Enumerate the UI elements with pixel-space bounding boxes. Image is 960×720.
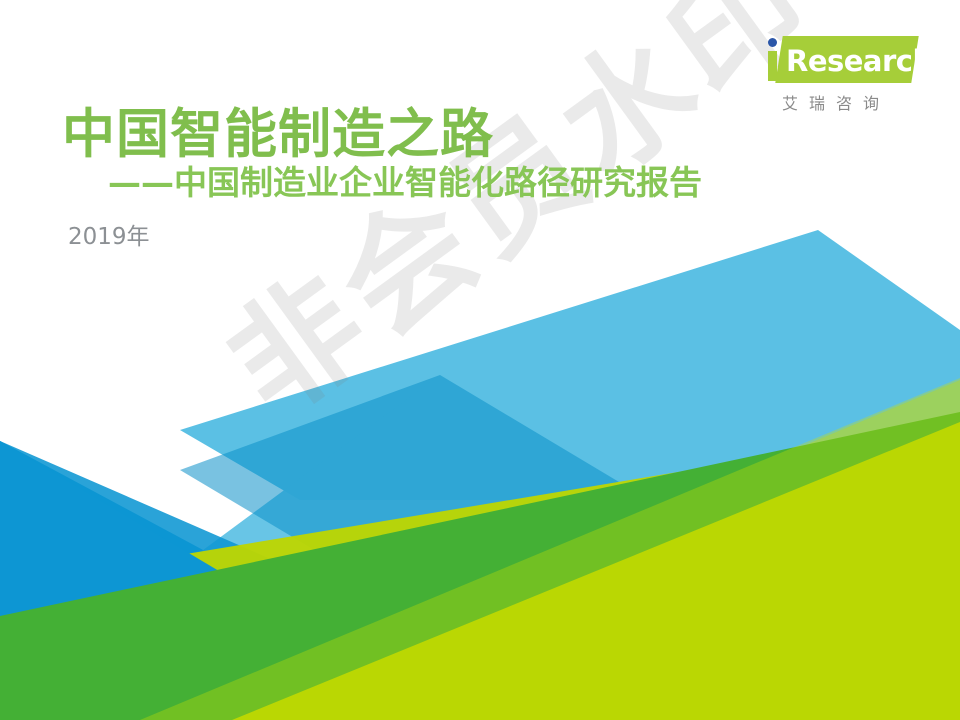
logo-mark: Research: [752, 30, 922, 86]
page-subtitle: ——中国制造业企业智能化路径研究报告: [108, 166, 702, 201]
page-title: 中国智能制造之路: [62, 108, 702, 162]
title-block: 中国智能制造之路 ——中国制造业企业智能化路径研究报告 2019年: [62, 108, 702, 251]
logo-i-dot-icon: [768, 38, 777, 47]
report-cover-slide: 非会员水印 Research 艾瑞咨询 中国智能制造之路 ——中国制造业企业智能…: [0, 0, 960, 720]
logo-chinese-name: 艾瑞咨询: [782, 90, 890, 114]
year-label: 2019年: [68, 217, 702, 251]
iresearch-logo: Research 艾瑞咨询: [752, 30, 922, 86]
logo-wordmark: Research: [786, 44, 916, 78]
